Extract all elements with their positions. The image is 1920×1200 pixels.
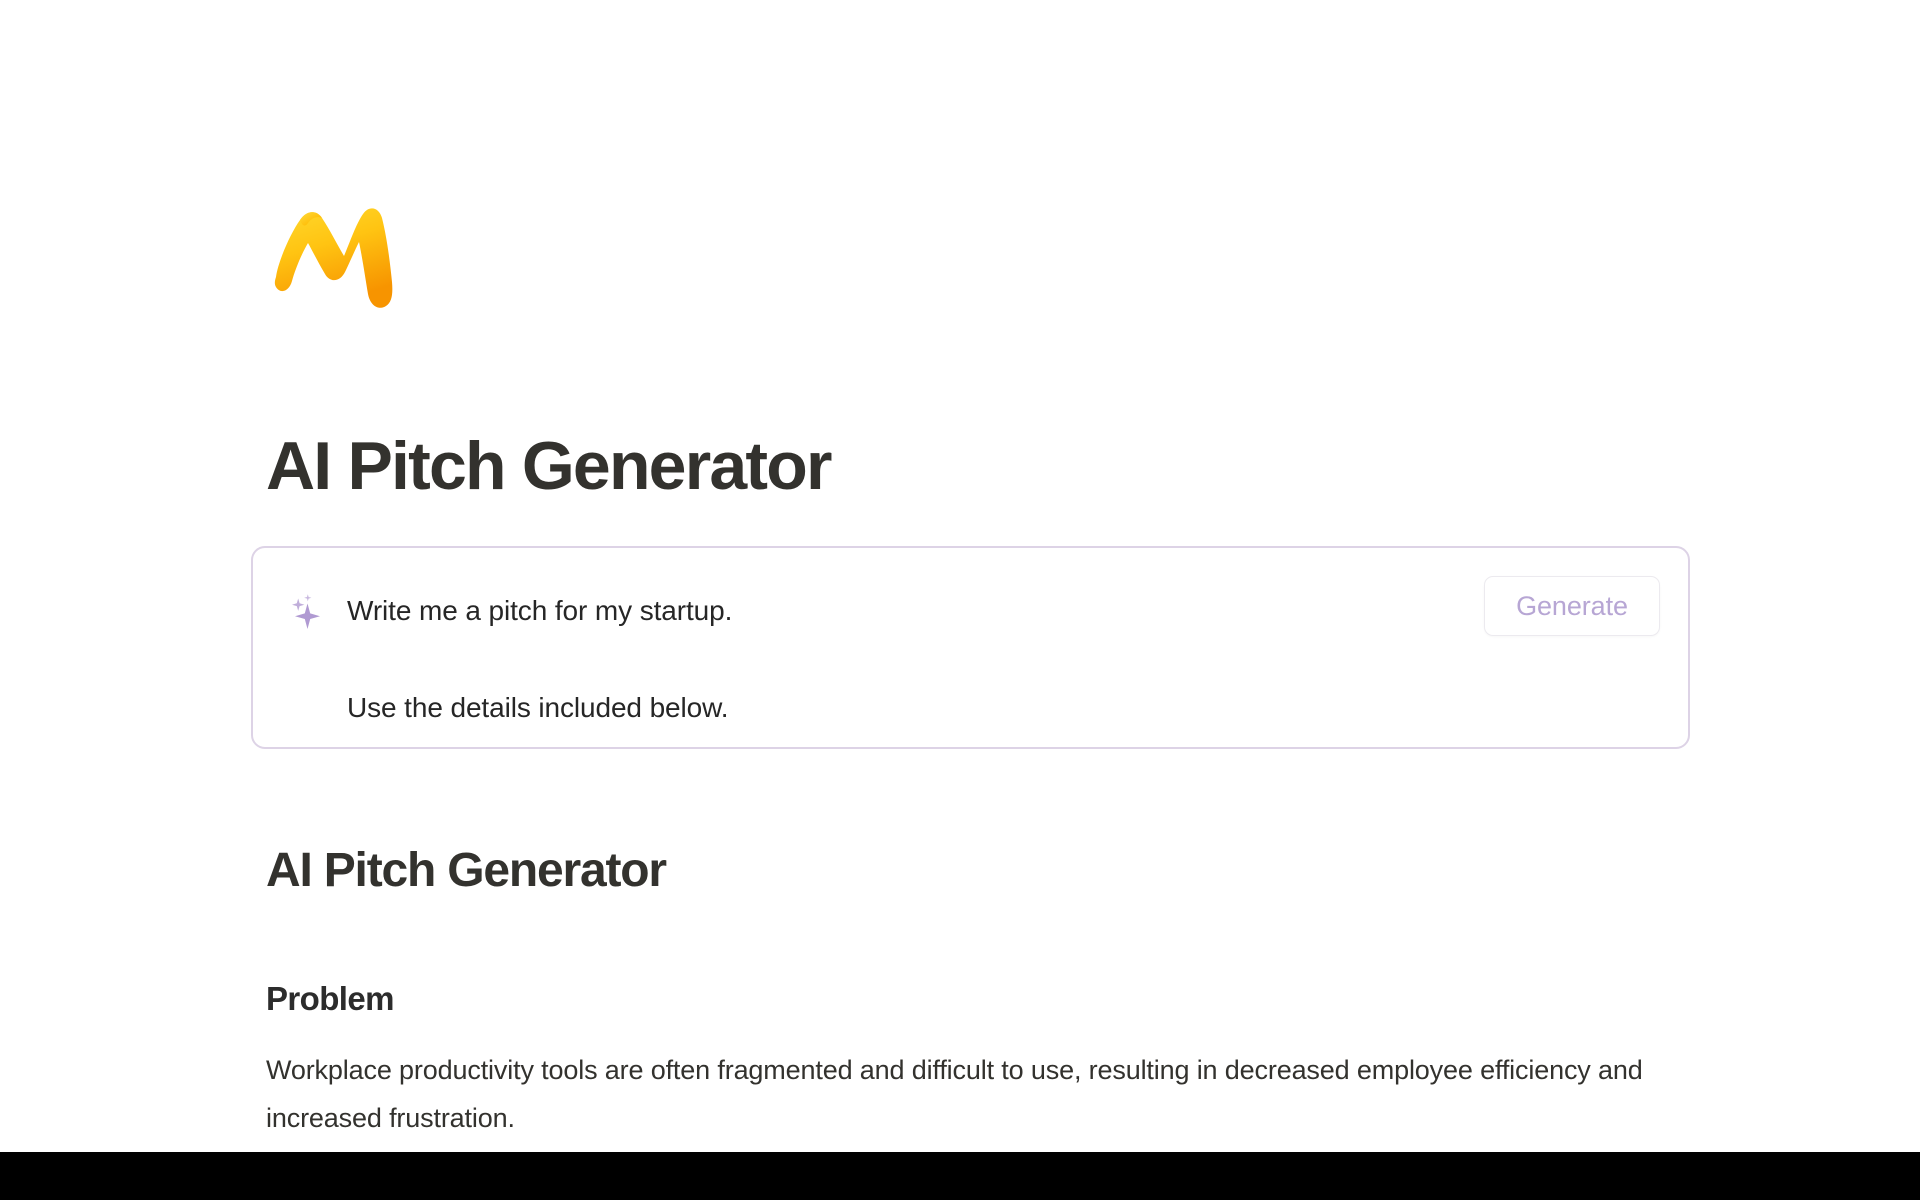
app-logo [268,190,418,320]
prompt-text-line-2[interactable]: Use the details included below. [347,690,728,726]
document-title: AI Pitch Generator [266,842,666,900]
prompt-card[interactable]: Write me a pitch for my startup. Use the… [251,546,1690,749]
prompt-content: Write me a pitch for my startup. Use the… [253,548,1688,747]
prompt-text-line-1[interactable]: Write me a pitch for my startup. [347,593,732,629]
page-title: AI Pitch Generator [266,426,831,506]
bottom-bar [0,1152,1920,1200]
generate-button[interactable]: Generate [1484,576,1660,636]
document-section-body: Workplace productivity tools are often f… [266,1046,1666,1142]
document-section-heading: Problem [266,978,394,1020]
app-root: AI Pitch Generator Write me a pitch for … [0,0,1920,1200]
sparkles-icon [285,591,327,633]
